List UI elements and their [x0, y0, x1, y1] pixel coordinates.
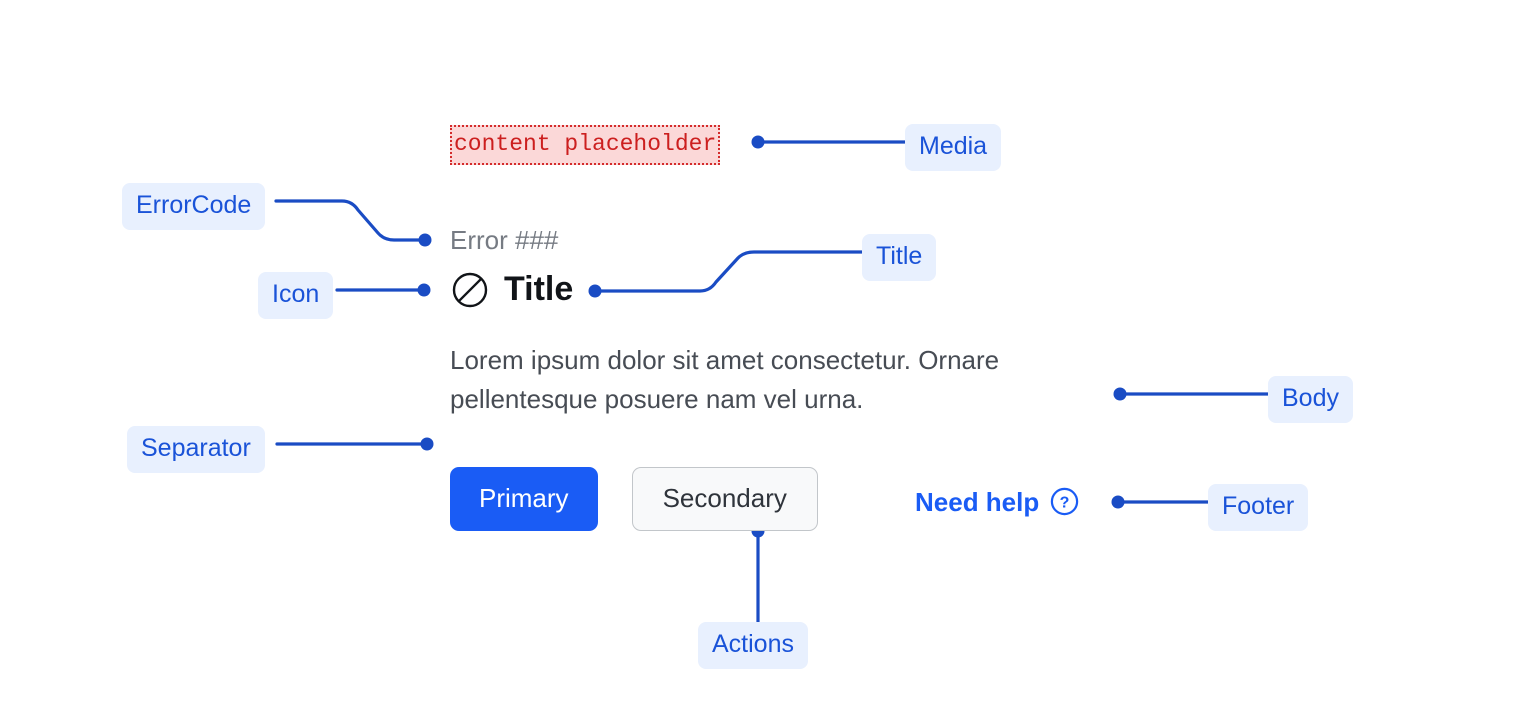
- annotation-pill-separator[interactable]: Separator: [127, 426, 265, 473]
- need-help-link[interactable]: Need help ?: [915, 487, 1079, 516]
- question-circle-icon[interactable]: ?: [1050, 487, 1079, 516]
- annotation-pill-footer[interactable]: Footer: [1208, 484, 1308, 531]
- connector-title: [595, 252, 862, 291]
- svg-text:?: ?: [1060, 494, 1070, 511]
- primary-button[interactable]: Primary: [450, 467, 598, 531]
- dot-media: [752, 136, 765, 149]
- annotation-pill-title[interactable]: Title: [862, 234, 936, 281]
- annotation-pill-body[interactable]: Body: [1268, 376, 1353, 423]
- secondary-button[interactable]: Secondary: [632, 467, 818, 531]
- annotation-canvas: content placeholder Error ### Title Lore…: [0, 0, 1536, 724]
- actions-row: Primary Secondary: [450, 467, 818, 531]
- annotation-pill-errorcode[interactable]: ErrorCode: [122, 183, 265, 230]
- dot-icon: [418, 284, 431, 297]
- title-row: Title: [450, 270, 573, 310]
- dot-footer: [1112, 496, 1125, 509]
- body-text: Lorem ipsum dolor sit amet consectetur. …: [450, 341, 1100, 419]
- dot-body: [1114, 388, 1127, 401]
- annotation-pill-media[interactable]: Media: [905, 124, 1001, 171]
- dot-separator: [421, 438, 434, 451]
- prohibition-circle-icon: [450, 270, 490, 310]
- error-code-text: Error ###: [450, 225, 558, 256]
- need-help-label: Need help: [915, 489, 1039, 515]
- annotation-pill-icon[interactable]: Icon: [258, 272, 333, 319]
- annotation-pill-actions[interactable]: Actions: [698, 622, 808, 669]
- page-title: Title: [504, 271, 573, 308]
- connector-errorcode: [276, 201, 425, 240]
- dot-title: [589, 285, 602, 298]
- dot-errorcode: [419, 234, 432, 247]
- media-content-placeholder: content placeholder: [450, 125, 720, 165]
